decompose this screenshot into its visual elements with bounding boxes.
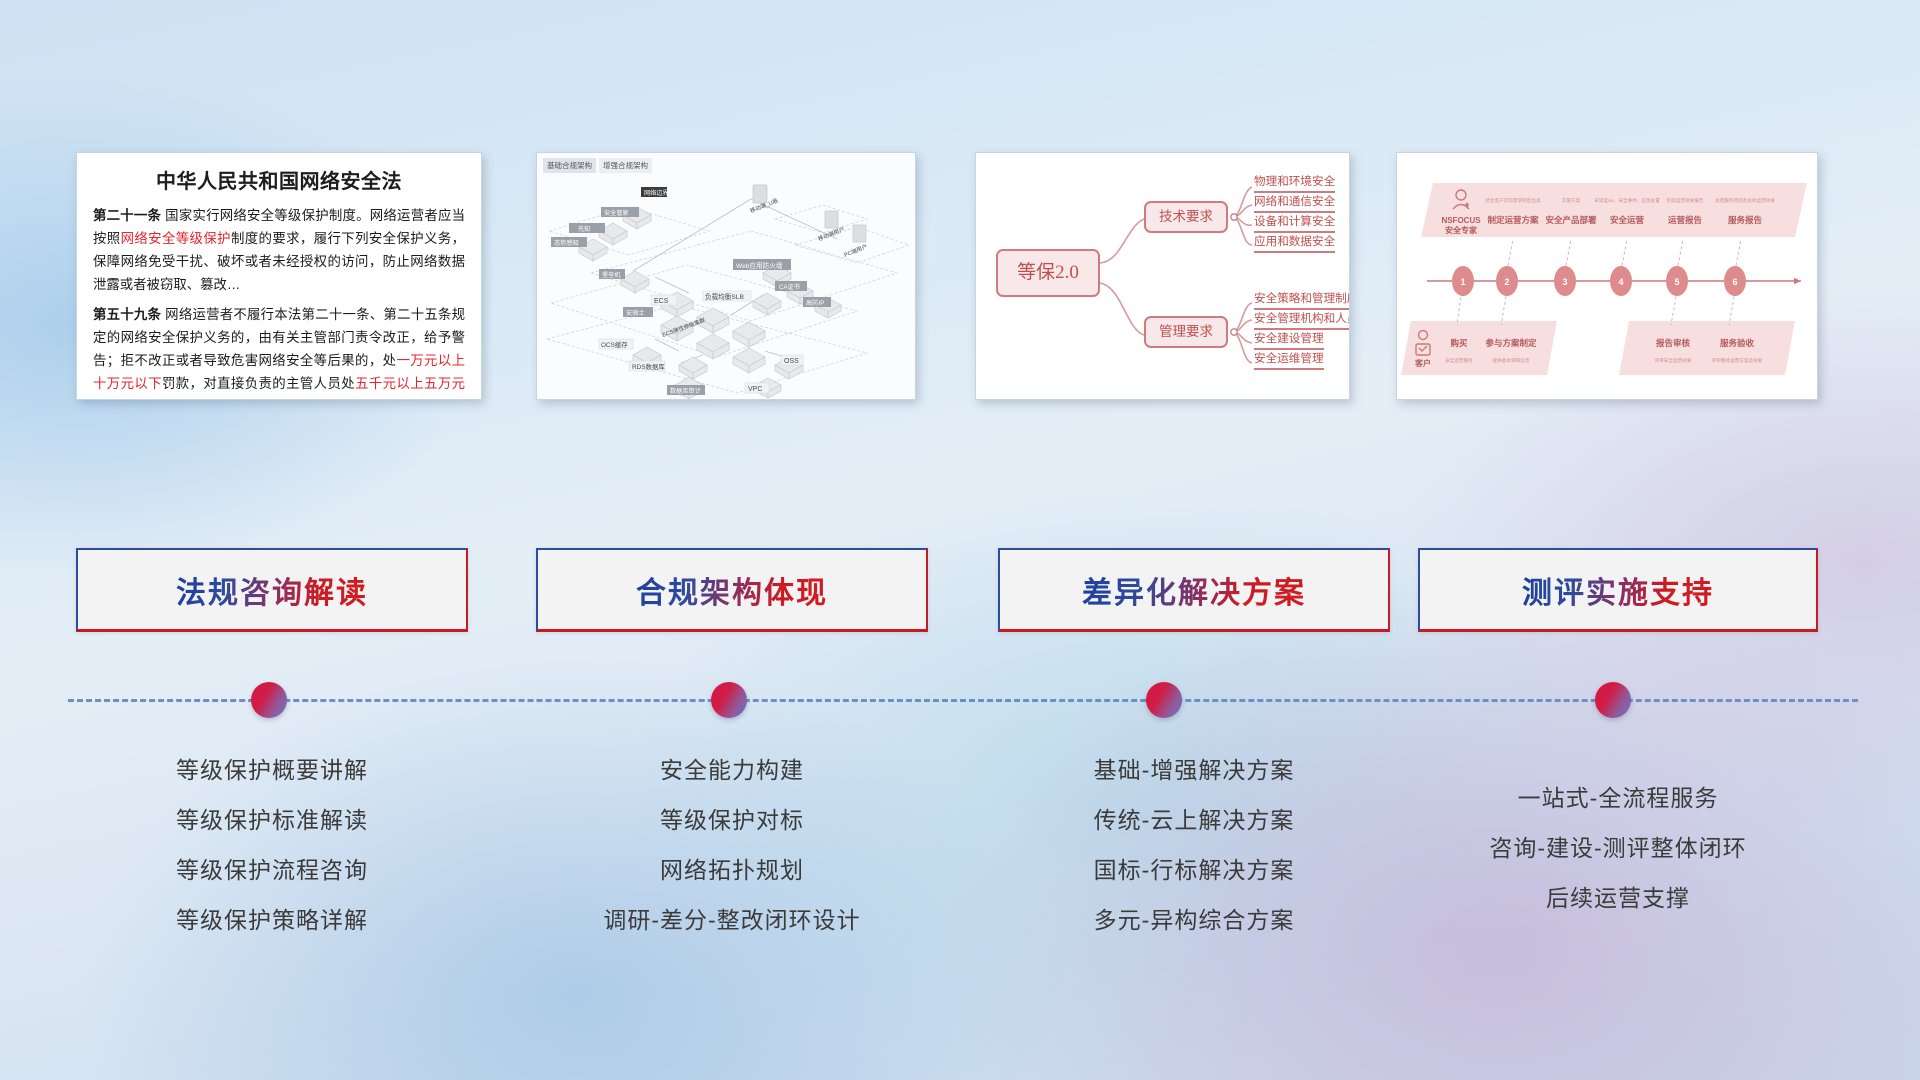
process-bottom-sub-3: 评审安全运营效果 [1655, 357, 1692, 364]
detail-column-4: 一站式-全流程服务 咨询-建设-测评整体闭环 后续运营支撑 [1418, 773, 1818, 923]
mindmap-leaf-tech-4: 应用和数据安全 [1254, 233, 1335, 253]
law-title: 中华人民共和国网络安全法 [93, 165, 465, 194]
list-item: 传统-云上解决方案 [998, 795, 1390, 845]
process-step-label-4: 安全运营 [1610, 215, 1645, 225]
process-step-number-1: 1 [1460, 277, 1465, 287]
list-item: 等级保护标准解读 [76, 795, 468, 845]
detail-column-2: 安全能力构建 等级保护对标 网络拓扑规划 调研-差分-整改闭环设计 [536, 745, 928, 945]
process-step-label-2: 制定运营方案 [1487, 215, 1539, 225]
mindmap-leaf-tech-3: 设备和计算安全 [1254, 213, 1335, 233]
svg-text:高防IP: 高防IP [806, 299, 824, 307]
law-article-59: 第五十九条 网络运营者不履行本法第二十一条、第二十五条规定的网络安全保护义务的，… [93, 303, 465, 400]
process-bottom-label-2: 参与方案制定 [1485, 338, 1537, 348]
list-item: 等级保护概要讲解 [76, 745, 468, 795]
process-bottom-label-3: 报告审核 [1656, 338, 1691, 348]
section-title-label-1: 法规咨询解读 [176, 568, 368, 612]
process-step-sub-4: 日常运nis、安全事件、应急处置 [1594, 197, 1660, 204]
mindmap-leaf-mgmt-4: 安全运维管理 [1254, 350, 1324, 370]
process-step-sub-3: 实施方案 [1562, 197, 1581, 204]
card-cloud-architecture[interactable]: 基础合规架构 增强合规架构 [536, 152, 916, 400]
list-item: 等级保护对标 [536, 795, 928, 845]
article-21-number: 第二十一条 [93, 208, 161, 223]
process-step-number-3: 3 [1562, 277, 1567, 287]
section-title-label-3: 差异化解决方案 [1082, 568, 1306, 612]
process-bottom-label-1: 购买 [1449, 338, 1468, 348]
process-bottom-sub-2: 提供基本调研信息 [1493, 357, 1530, 364]
svg-text:态势感知: 态势感知 [554, 239, 579, 247]
svg-text:ECS: ECS [654, 298, 669, 305]
section-title-box-3[interactable]: 差异化解决方案 [998, 548, 1390, 632]
card-mindmap-dengbao[interactable]: 等保2.0 技术要求 管理要求 物理和环境安全 网络和通信安全 设备和计算安全 … [975, 152, 1350, 400]
svg-text:先知: 先知 [578, 225, 590, 233]
list-item: 咨询-建设-测评整体闭环 [1418, 823, 1818, 873]
thumbnail-card-row: 中华人民共和国网络安全法 第二十一条 国家实行网络安全等级保护制度。网络运营者应… [0, 0, 1920, 430]
svg-text:安全管家: 安全管家 [604, 209, 629, 217]
article-59-text-b: 罚款，对直接负责的主管人员处 [162, 376, 355, 391]
mindmap-leaf-mgmt-2: 安全管理机构和人员 [1254, 310, 1350, 330]
article-59-number: 第五十九条 [93, 307, 161, 322]
detail-column-3: 基础-增强解决方案 传统-云上解决方案 国标-行标解决方案 多元-异构综合方案 [998, 745, 1390, 945]
process-step-sub-6: 总结服务范围及总体运营效果 [1715, 197, 1775, 204]
svg-text:OCS缓存: OCS缓存 [601, 340, 628, 349]
law-text-body: 中华人民共和国网络安全法 第二十一条 国家实行网络安全等级保护制度。网络运营者应… [77, 153, 481, 400]
process-bottom-role: 客户 [1414, 358, 1431, 368]
process-bottom-sub-4: 评审整体运营方案及效果 [1712, 357, 1763, 364]
list-item: 后续运营支撑 [1418, 873, 1818, 923]
timeline-dot-4[interactable] [1595, 682, 1631, 718]
list-item: 多元-异构综合方案 [998, 895, 1390, 945]
list-item: 调研-差分-整改闭环设计 [536, 895, 928, 945]
timeline [0, 660, 1920, 740]
architecture-diagram: 基础合规架构 增强合规架构 [537, 153, 915, 399]
section-title-label-2: 合规架构体现 [636, 568, 828, 612]
section-title-box-4[interactable]: 测评实施支持 [1418, 548, 1818, 632]
card-service-process[interactable]: 1 2 3 4 5 6 NSFOCUS 安全专家 [1396, 152, 1818, 400]
mindmap-branch-technical: 技术要求 [1144, 201, 1228, 233]
mindmap-branch-management: 管理要求 [1144, 316, 1228, 348]
process-top-role-line2: 安全专家 [1445, 225, 1478, 235]
detail-column-1: 等级保护概要讲解 等级保护标准解读 等级保护流程咨询 等级保护策略详解 [76, 745, 468, 945]
process-bottom-label-4: 服务验收 [1720, 338, 1755, 348]
list-item: 等级保护策略详解 [76, 895, 468, 945]
process-step-number-2: 2 [1504, 277, 1509, 287]
svg-text:OSS: OSS [784, 358, 799, 365]
mindmap-leaf-tech-2: 网络和通信安全 [1254, 193, 1335, 213]
svg-text:堡垒机: 堡垒机 [602, 271, 621, 279]
detail-columns: 等级保护概要讲解 等级保护标准解读 等级保护流程咨询 等级保护策略详解 安全能力… [0, 745, 1920, 975]
process-diagram: 1 2 3 4 5 6 NSFOCUS 安全专家 [1397, 153, 1817, 399]
svg-text:CA证书: CA证书 [779, 283, 800, 291]
mindmap-leaf-tech-1: 物理和环境安全 [1254, 173, 1335, 193]
svg-text:网络边界: 网络边界 [644, 189, 669, 197]
svg-text:安骑士: 安骑士 [626, 309, 645, 317]
mindmap-leaf-mgmt-1: 安全策略和管理制度 [1254, 290, 1350, 310]
timeline-dot-1[interactable] [251, 682, 287, 718]
section-title-label-4: 测评实施支持 [1522, 568, 1714, 612]
section-title-box-2[interactable]: 合规架构体现 [536, 548, 928, 632]
section-title-box-1[interactable]: 法规咨询解读 [76, 548, 468, 632]
article-59-text-c: 罚款。 [120, 399, 160, 400]
timeline-dashed-line [68, 699, 1858, 702]
svg-text:Web应用防火墙: Web应用防火墙 [736, 261, 783, 270]
mindmap-leaf-mgmt-3: 安全建设管理 [1254, 330, 1324, 350]
timeline-dot-2[interactable] [711, 682, 747, 718]
list-item: 等级保护流程咨询 [76, 845, 468, 895]
process-step-number-6: 6 [1732, 277, 1737, 287]
article-21-highlight: 网络安全等级保护 [121, 231, 231, 246]
process-step-number-4: 4 [1618, 277, 1623, 287]
svg-text:RDS数据库: RDS数据库 [632, 362, 665, 371]
list-item: 国标-行标解决方案 [998, 845, 1390, 895]
process-bottom-sub-1: 安全运营服务 [1445, 357, 1473, 364]
svg-text:VPC: VPC [748, 386, 762, 393]
process-step-label-5: 运营报告 [1668, 215, 1703, 225]
law-article-21: 第二十一条 国家实行网络安全等级保护制度。网络运营者应当按照网络安全等级保护制度… [93, 204, 465, 296]
process-step-label-3: 安全产品部署 [1545, 215, 1597, 225]
svg-text:数据库审计: 数据库审计 [670, 387, 701, 395]
process-top-role-line1: NSFOCUS [1441, 216, 1481, 225]
mindmap-diagram: 等保2.0 技术要求 管理要求 物理和环境安全 网络和通信安全 设备和计算安全 … [976, 153, 1349, 399]
section-title-row: 法规咨询解读 合规架构体现 差异化解决方案 测评实施支持 [0, 548, 1920, 636]
svg-text:PC端用户: PC端用户 [843, 242, 869, 259]
list-item: 安全能力构建 [536, 745, 928, 795]
process-step-number-5: 5 [1674, 277, 1679, 287]
architecture-svg: 网络边界 安全管家 先知 态势感知 堡垒机 Web应用防火墙 CA证书 高防IP… [537, 153, 916, 400]
list-item: 网络拓扑规划 [536, 845, 928, 895]
list-item: 基础-增强解决方案 [998, 745, 1390, 795]
list-item: 一站式-全流程服务 [1418, 773, 1818, 823]
process-step-sub-5: 阶段运营效果报告 [1667, 197, 1704, 204]
process-step-label-6: 服务报告 [1728, 215, 1763, 225]
mindmap-root-node: 等保2.0 [996, 249, 1100, 297]
card-cybersecurity-law[interactable]: 中华人民共和国网络安全法 第二十一条 国家实行网络安全等级保护制度。网络运营者应… [76, 152, 482, 400]
process-step-sub-2: 结合客户实际需求制定出具 [1485, 197, 1541, 204]
timeline-dot-3[interactable] [1146, 682, 1182, 718]
process-svg: 1 2 3 4 5 6 NSFOCUS 安全专家 [1397, 153, 1818, 400]
svg-text:负载均衡SLB: 负载均衡SLB [705, 292, 744, 301]
